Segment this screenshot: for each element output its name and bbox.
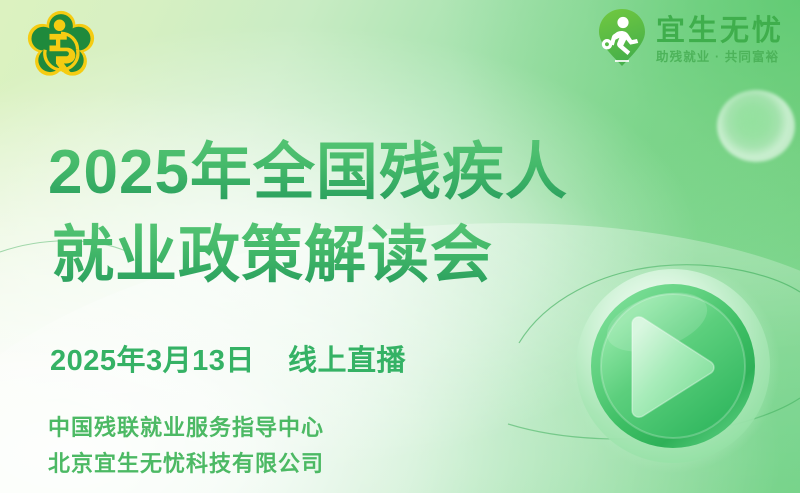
event-date: 2025年3月13日 bbox=[50, 345, 255, 377]
headline-line-1: 2025年全国残疾人 bbox=[48, 131, 648, 214]
poster-canvas: 宜生无忧 助残就业 · 共同富裕 bbox=[0, 0, 800, 493]
event-mode: 线上直播 bbox=[288, 345, 406, 377]
organizer-line-2: 北京宜生无忧科技有限公司 bbox=[48, 446, 324, 482]
brand-logo: 宜生无忧 助残就业 · 共同富裕 bbox=[597, 8, 784, 70]
organizer-line-1: 中国残联就业服务指导中心 bbox=[48, 410, 324, 446]
bubble-orb bbox=[717, 90, 795, 162]
organizer-block: 中国残联就业服务指导中心 北京宜生无忧科技有限公司 bbox=[48, 410, 324, 481]
page-title: 2025年全国残疾人 就业政策解读会 bbox=[48, 131, 648, 297]
pin-base bbox=[615, 60, 629, 62]
headline-line-2: 就业政策解读会 bbox=[48, 214, 648, 297]
event-info: 2025年3月13日 线上直播 bbox=[50, 337, 406, 379]
brand-tagline: 助残就业 · 共同富裕 bbox=[656, 51, 784, 64]
location-pin-runner-icon bbox=[597, 8, 647, 70]
brand-name: 宜生无忧 bbox=[656, 16, 784, 47]
brand-text-block: 宜生无忧 助残就业 · 共同富裕 bbox=[656, 14, 784, 64]
china-disabled-persons-federation-emblem bbox=[25, 8, 97, 80]
